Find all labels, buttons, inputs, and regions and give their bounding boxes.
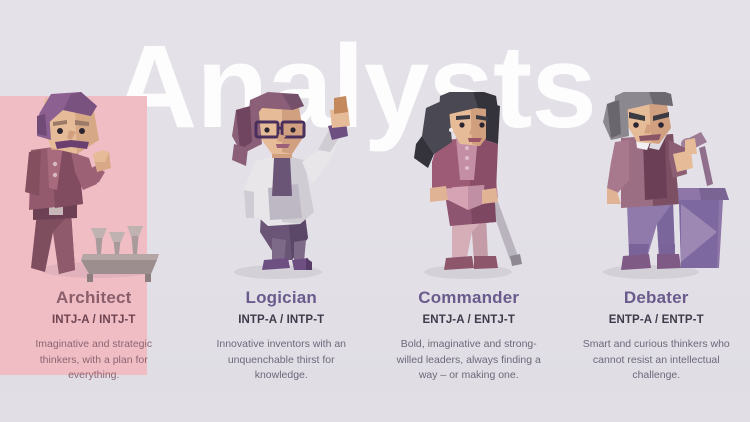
card-title: Commander	[418, 288, 519, 308]
personality-card-list: Architect INTJ-A / INTJ-T Imaginative an…	[0, 0, 750, 422]
personality-card-commander[interactable]: Commander ENTJ-A / ENTJ-T Bold, imaginat…	[375, 0, 563, 422]
card-description: Imaginative and strategic thinkers, with…	[18, 337, 170, 384]
card-code: INTJ-A / INTJ-T	[52, 314, 136, 326]
personality-card-debater[interactable]: Debater ENTP-A / ENTP-T Smart and curiou…	[563, 0, 750, 422]
logician-scientist-figure-icon	[206, 92, 356, 282]
architect-illustration	[0, 92, 188, 282]
card-code: INTP-A / INTP-T	[238, 314, 324, 326]
commander-leader-figure-icon	[394, 92, 544, 282]
commander-illustration	[375, 92, 563, 282]
card-code: ENTJ-A / ENTJ-T	[423, 314, 515, 326]
card-title: Debater	[624, 288, 689, 308]
card-code: ENTP-A / ENTP-T	[609, 314, 704, 326]
logician-illustration	[188, 92, 376, 282]
card-title: Architect	[56, 288, 132, 308]
card-description: Innovative inventors with an unquenchabl…	[205, 337, 357, 384]
personality-card-logician[interactable]: Logician INTP-A / INTP-T Innovative inve…	[188, 0, 376, 422]
analysts-section: Analysts	[0, 0, 750, 422]
debater-illustration	[563, 92, 750, 282]
card-description: Smart and curious thinkers who cannot re…	[580, 337, 732, 384]
card-description: Bold, imaginative and strong-willed lead…	[393, 337, 545, 384]
debater-podium-figure-icon	[581, 92, 731, 282]
personality-card-architect[interactable]: Architect INTJ-A / INTJ-T Imaginative an…	[0, 0, 188, 422]
card-title: Logician	[246, 288, 318, 308]
architect-thinking-figure-icon	[19, 92, 169, 282]
